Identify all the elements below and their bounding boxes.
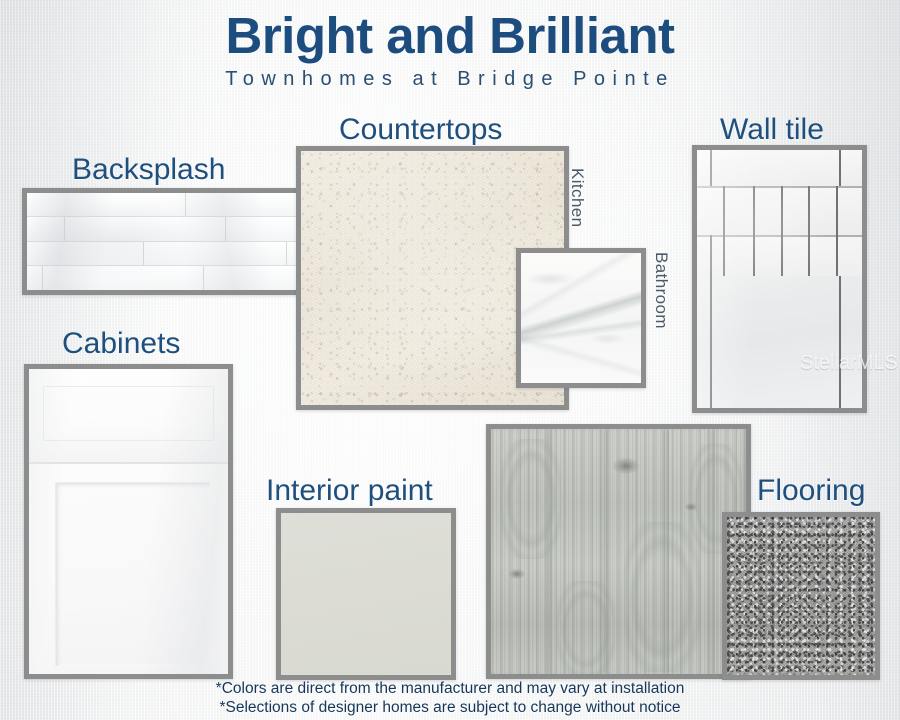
cabinet-door-front	[29, 464, 228, 674]
backsplash-tile-texture	[27, 193, 302, 290]
wood-plank-texture	[491, 429, 746, 674]
cabinet-shaker-panel	[55, 482, 210, 665]
label-countertops: Countertops	[339, 113, 502, 147]
cabinet-drawer-front	[29, 369, 228, 464]
label-flooring: Flooring	[757, 474, 865, 508]
page-subtitle: Townhomes at Bridge Pointe	[0, 63, 900, 91]
label-wall-tile: Wall tile	[720, 113, 824, 147]
label-backsplash: Backsplash	[72, 153, 225, 187]
label-cabinets: Cabinets	[62, 327, 180, 361]
page-title: Bright and Brilliant	[0, 0, 900, 63]
disclaimer-footer: *Colors are direct from the manufacturer…	[0, 680, 900, 718]
swatch-cabinets[interactable]	[24, 364, 233, 679]
swatch-wall-tile[interactable]	[692, 145, 867, 413]
room-tag-bathroom: Bathroom	[651, 252, 671, 329]
wall-tile-texture	[697, 150, 862, 408]
swatch-countertop-bathroom[interactable]	[516, 248, 646, 388]
room-tag-kitchen: Kitchen	[567, 168, 587, 228]
swatch-flooring-wood[interactable]	[486, 424, 751, 679]
disclaimer-line-2: *Selections of designer homes are subjec…	[0, 699, 900, 718]
disclaimer-line-1: *Colors are direct from the manufacturer…	[0, 680, 900, 699]
carpet-texture	[727, 517, 875, 675]
interior-paint-color	[281, 513, 451, 675]
swatch-flooring-carpet[interactable]	[722, 512, 880, 680]
cabinet-texture	[29, 369, 228, 674]
label-interior-paint: Interior paint	[266, 474, 433, 508]
bathroom-marble-texture	[521, 253, 641, 383]
swatch-backsplash[interactable]	[22, 188, 307, 295]
board-header: Bright and Brilliant Townhomes at Bridge…	[0, 0, 900, 91]
swatch-interior-paint[interactable]	[276, 508, 456, 680]
